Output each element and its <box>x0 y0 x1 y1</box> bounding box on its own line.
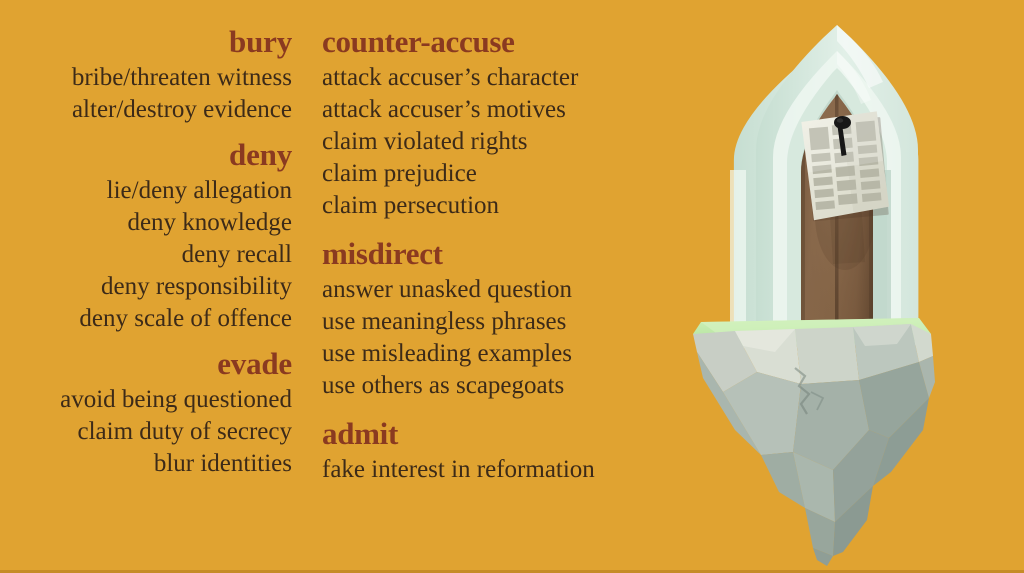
tactic-group-counter-accuse: counter-accuse attack accuser’s characte… <box>322 22 660 222</box>
list-item: answer unasked question <box>322 274 660 306</box>
tactics-column-right: counter-accuse attack accuser’s characte… <box>322 22 660 486</box>
list-item: claim violated rights <box>322 126 660 158</box>
slide-canvas: bury bribe/threaten witness alter/destro… <box>0 0 1024 573</box>
list-item: alter/destroy evidence <box>0 94 292 126</box>
list-item: deny knowledge <box>0 207 292 239</box>
group-heading-deny: deny <box>0 135 292 175</box>
group-heading-admit: admit <box>322 414 660 454</box>
list-item: deny responsibility <box>0 271 292 303</box>
list-item: avoid being questioned <box>0 384 292 416</box>
list-item: blur identities <box>0 448 292 480</box>
group-heading-bury: bury <box>0 22 292 62</box>
tactics-column-left: bury bribe/threaten witness alter/destro… <box>0 22 292 480</box>
list-item: claim prejudice <box>322 158 660 190</box>
list-item: claim duty of secrecy <box>0 416 292 448</box>
group-heading-counter-accuse: counter-accuse <box>322 22 660 62</box>
list-item: use others as scapegoats <box>322 370 660 402</box>
tactic-group-admit: admit fake interest in reformation <box>322 414 660 486</box>
list-item: claim persecution <box>322 190 660 222</box>
floating-island-church-door-illustration <box>683 0 1024 573</box>
group-heading-misdirect: misdirect <box>322 234 660 274</box>
list-item: bribe/threaten witness <box>0 62 292 94</box>
list-item: use meaningless phrases <box>322 306 660 338</box>
list-item: deny recall <box>0 239 292 271</box>
tactic-group-bury: bury bribe/threaten witness alter/destro… <box>0 22 292 126</box>
group-heading-evade: evade <box>0 344 292 384</box>
tactic-group-evade: evade avoid being questioned claim duty … <box>0 344 292 480</box>
list-item: lie/deny allegation <box>0 175 292 207</box>
list-item: fake interest in reformation <box>322 454 660 486</box>
tactic-group-misdirect: misdirect answer unasked question use me… <box>322 234 660 402</box>
tactic-group-deny: deny lie/deny allegation deny knowledge … <box>0 135 292 335</box>
list-item: use misleading examples <box>322 338 660 370</box>
list-item: attack accuser’s character <box>322 62 660 94</box>
floating-island <box>693 318 935 566</box>
tactics-columns: bury bribe/threaten witness alter/destro… <box>0 0 660 573</box>
list-item: attack accuser’s motives <box>322 94 660 126</box>
list-item: deny scale of offence <box>0 303 292 335</box>
